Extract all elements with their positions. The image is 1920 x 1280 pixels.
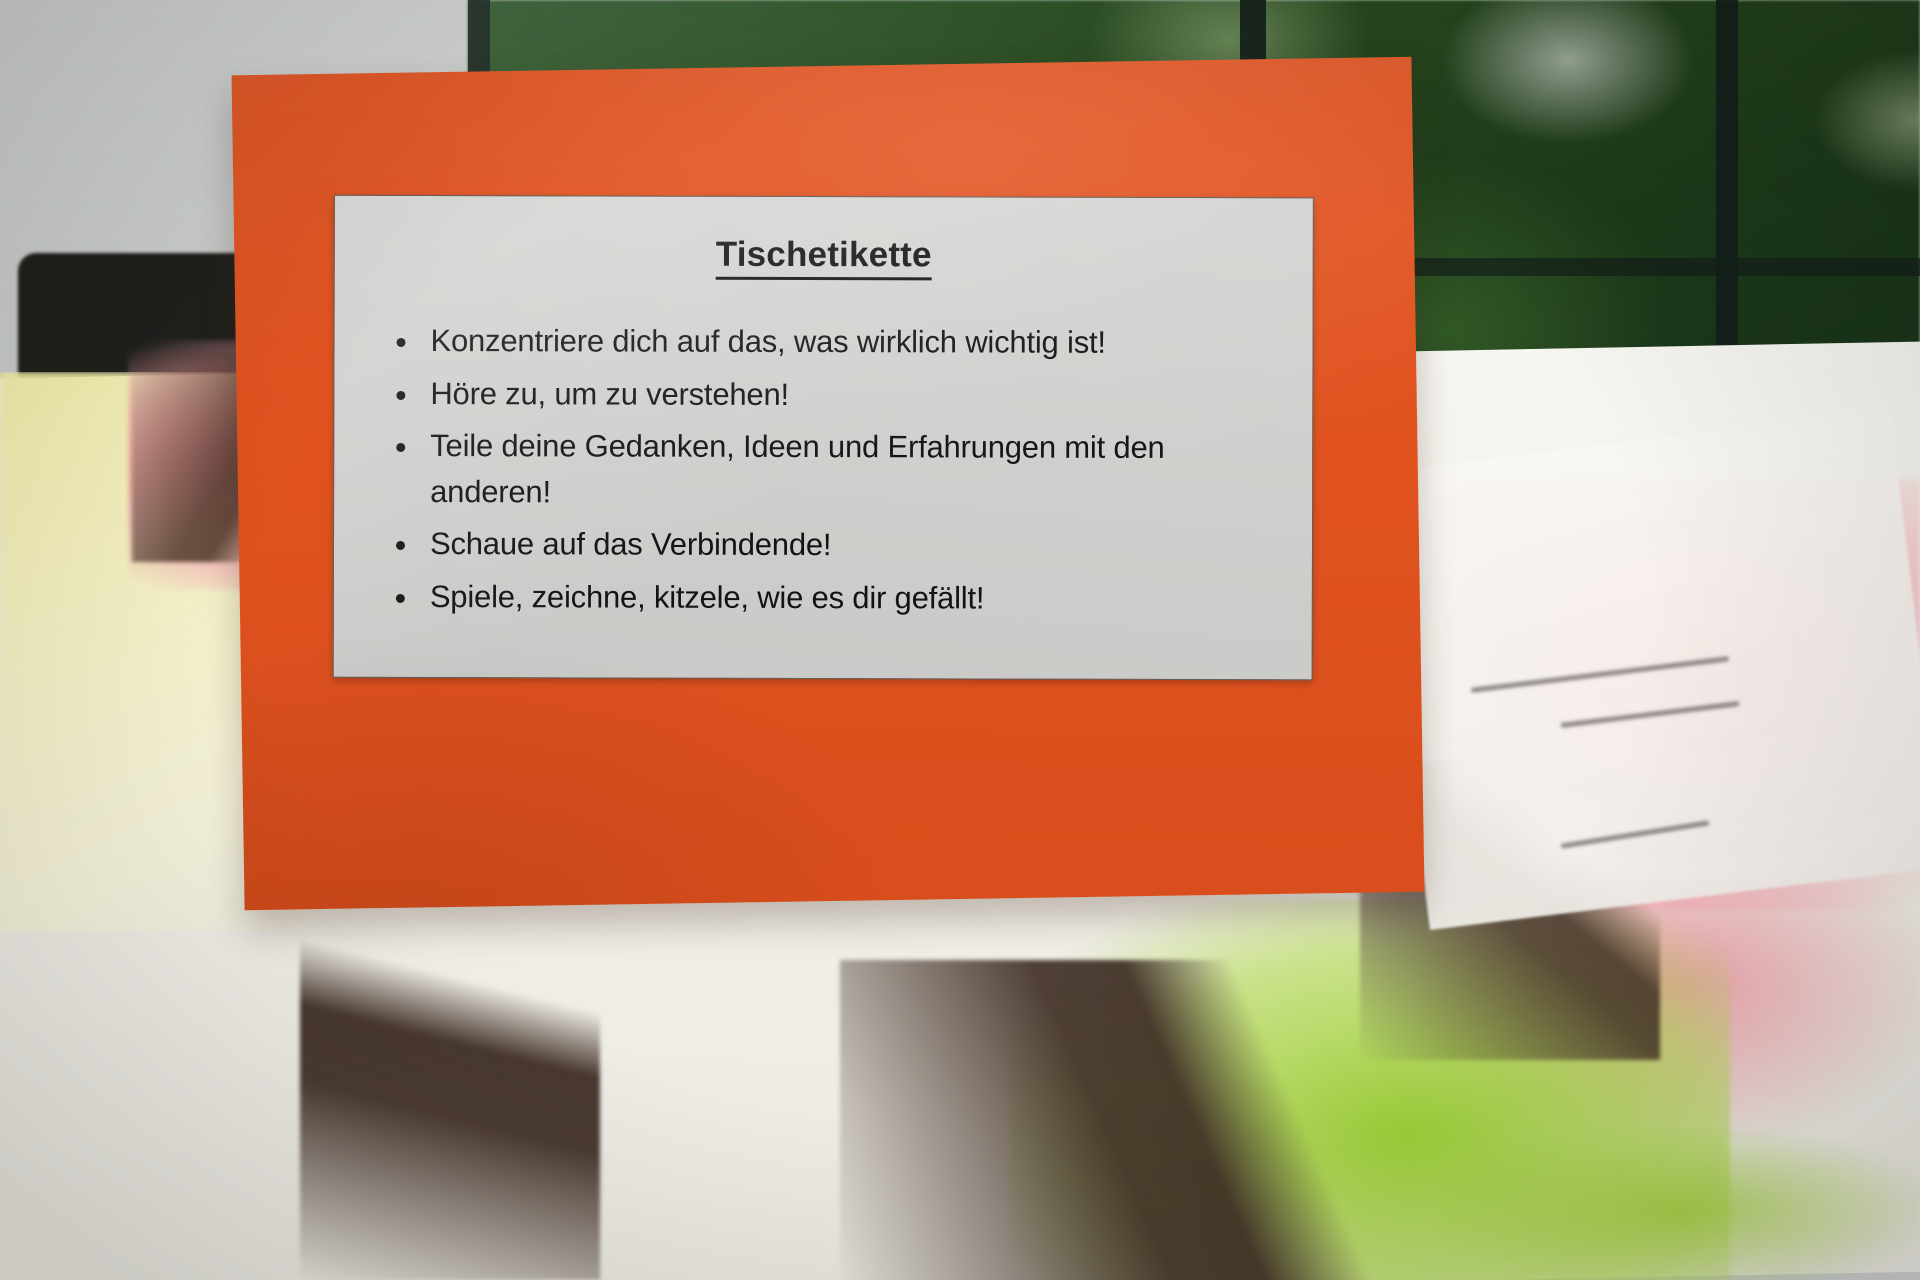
bullet-icon: [396, 391, 405, 400]
rule-text: Spiele, zeichne, kitzele, wie es dir gef…: [430, 579, 985, 615]
list-item: Konzentriere dich auf das, was wirklich …: [390, 318, 1278, 366]
list-item: Spiele, zeichne, kitzele, wie es dir gef…: [390, 574, 1278, 622]
bullet-icon: [397, 338, 406, 347]
orange-table-card: Tischetikette Konzentriere dich auf das,…: [232, 57, 1425, 910]
bullet-icon: [396, 594, 405, 603]
printed-label-sheet: Tischetikette Konzentriere dich auf das,…: [333, 195, 1314, 681]
sheet-title-text: Tischetikette: [716, 235, 932, 281]
sheet-title: Tischetikette: [369, 234, 1279, 276]
list-item: Höre zu, um zu verstehen!: [390, 370, 1278, 418]
bullet-icon: [396, 443, 405, 452]
paint-wash-green-lower: [1440, 1130, 1920, 1280]
rule-text: Höre zu, um zu verstehen!: [430, 376, 789, 412]
photo-scene: Tischetikette Konzentriere dich auf das,…: [0, 0, 1920, 1280]
rule-text: Konzentriere dich auf das, was wirklich …: [430, 323, 1105, 360]
rule-text: Teile deine Gedanken, Ideen und Erfahrun…: [430, 428, 1165, 509]
etiquette-rules-list: Konzentriere dich auf das, was wirklich …: [390, 318, 1279, 622]
list-item: Teile deine Gedanken, Ideen und Erfahrun…: [390, 423, 1278, 516]
rule-text: Schaue auf das Verbindende!: [430, 526, 831, 562]
bullet-icon: [396, 541, 405, 550]
paint-stroke-brown-1: [300, 880, 600, 1280]
list-item: Schaue auf das Verbindende!: [390, 521, 1278, 569]
